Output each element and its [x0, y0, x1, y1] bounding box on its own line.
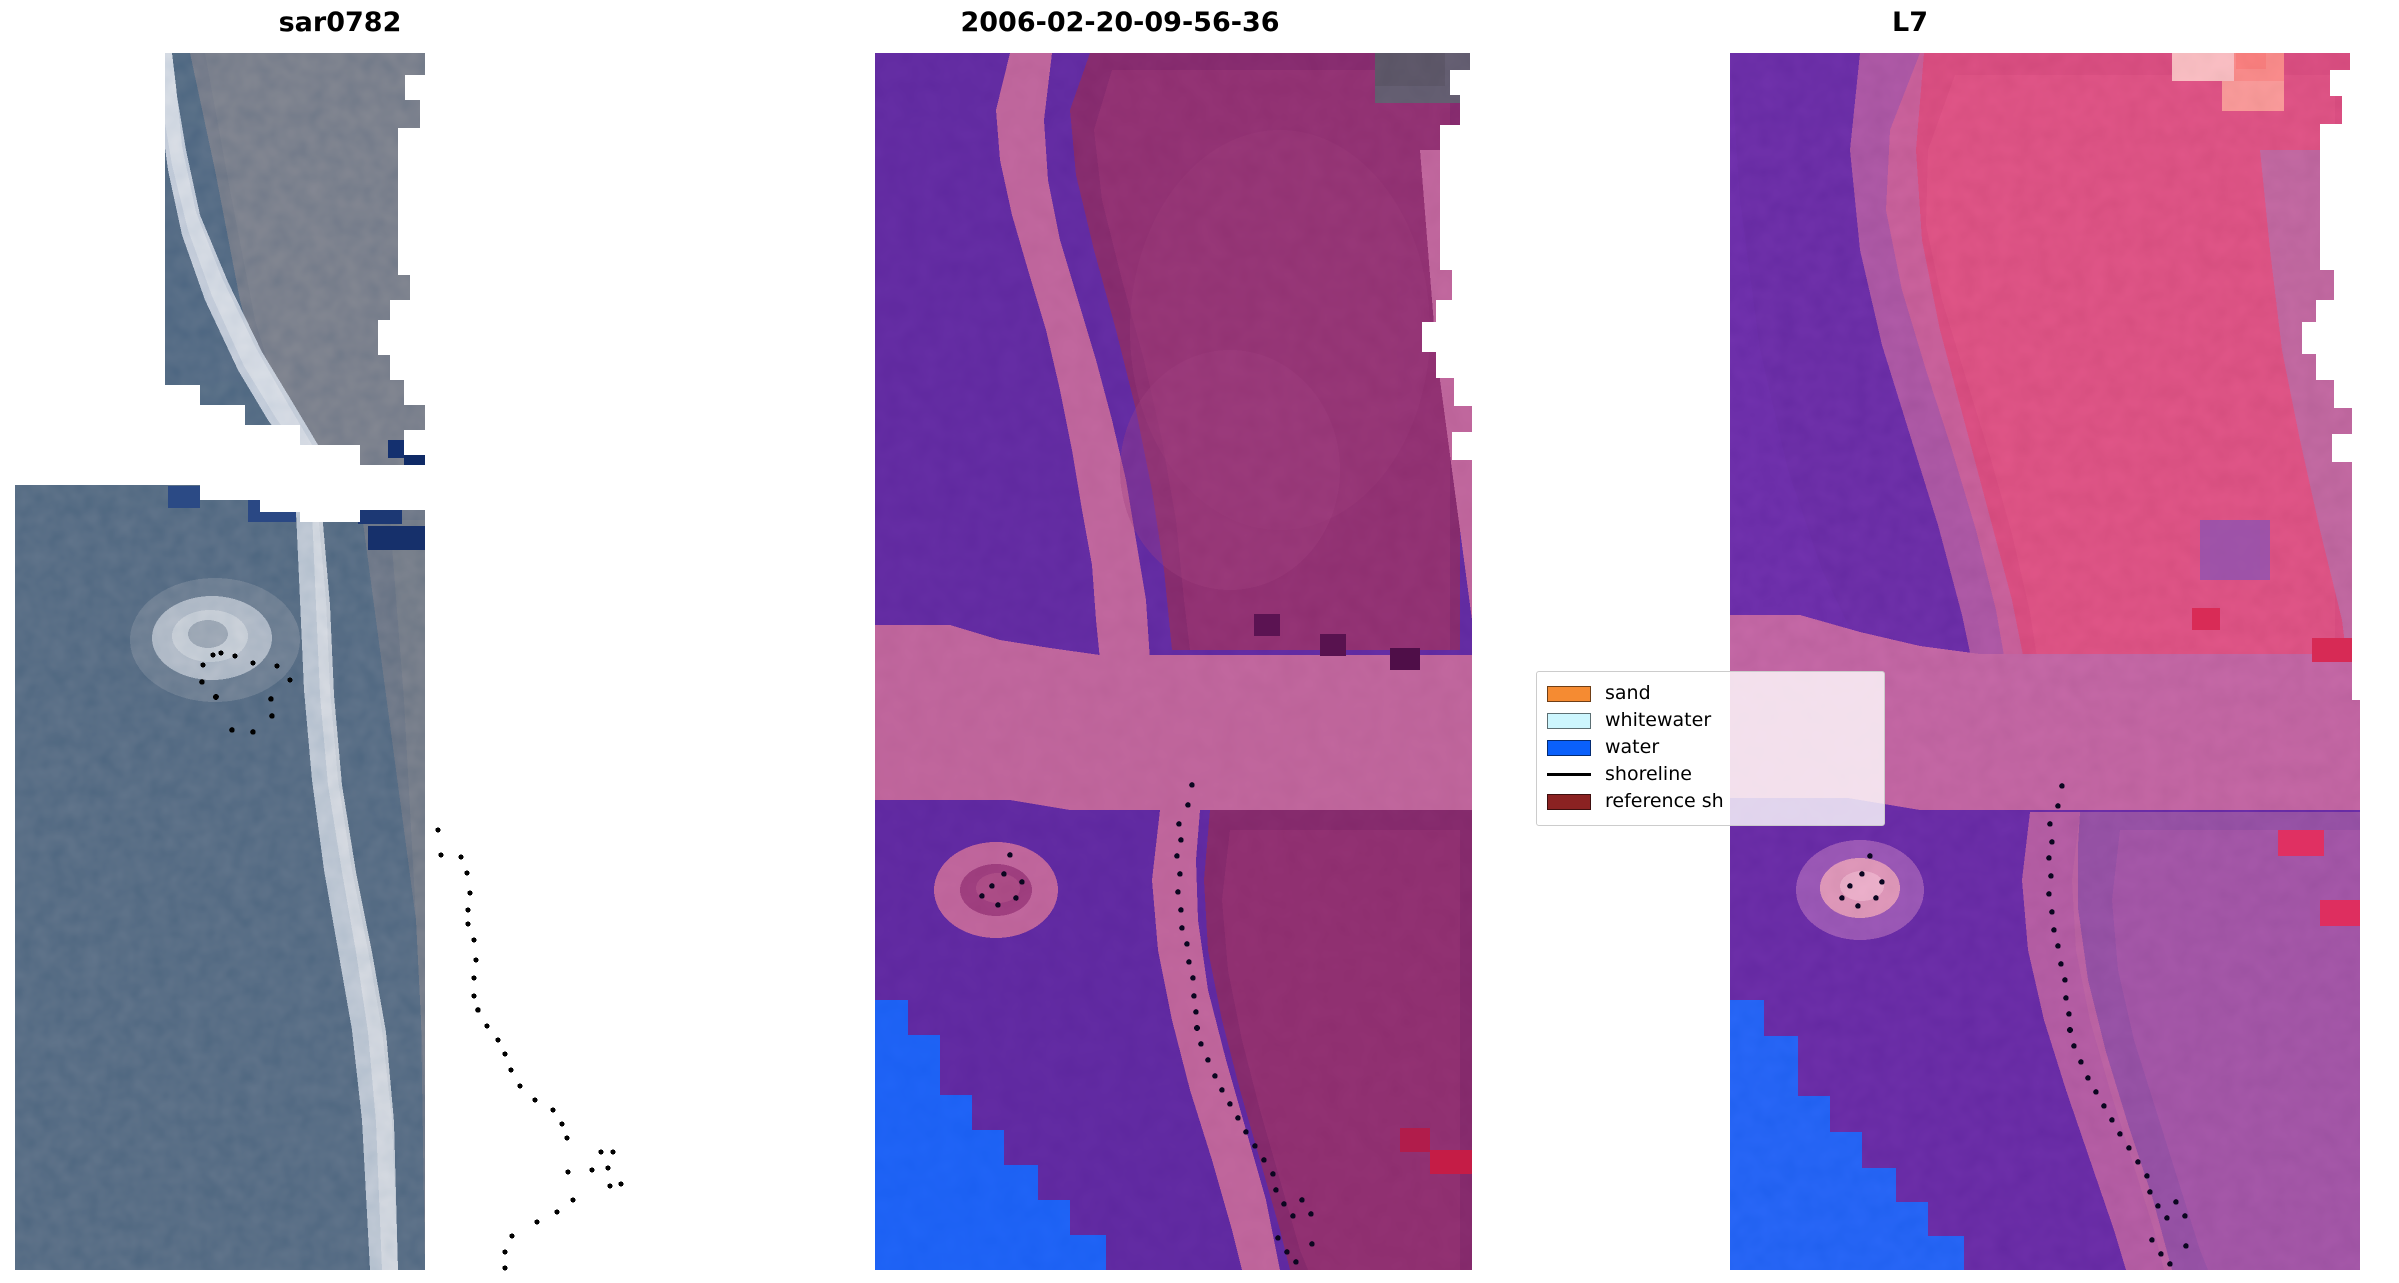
panel-classified-image [760, 0, 1480, 1283]
panel-l7-image [1560, 0, 2399, 1283]
panel-l7: L7 [1560, 0, 2399, 1283]
panel-sar0782: sar0782 [0, 0, 680, 1283]
figure-canvas: sar0782 [0, 0, 2399, 1283]
panel-sar0782-image [0, 0, 680, 1283]
panel-classified: 2006-02-20-09-56-36 [760, 0, 1480, 1283]
